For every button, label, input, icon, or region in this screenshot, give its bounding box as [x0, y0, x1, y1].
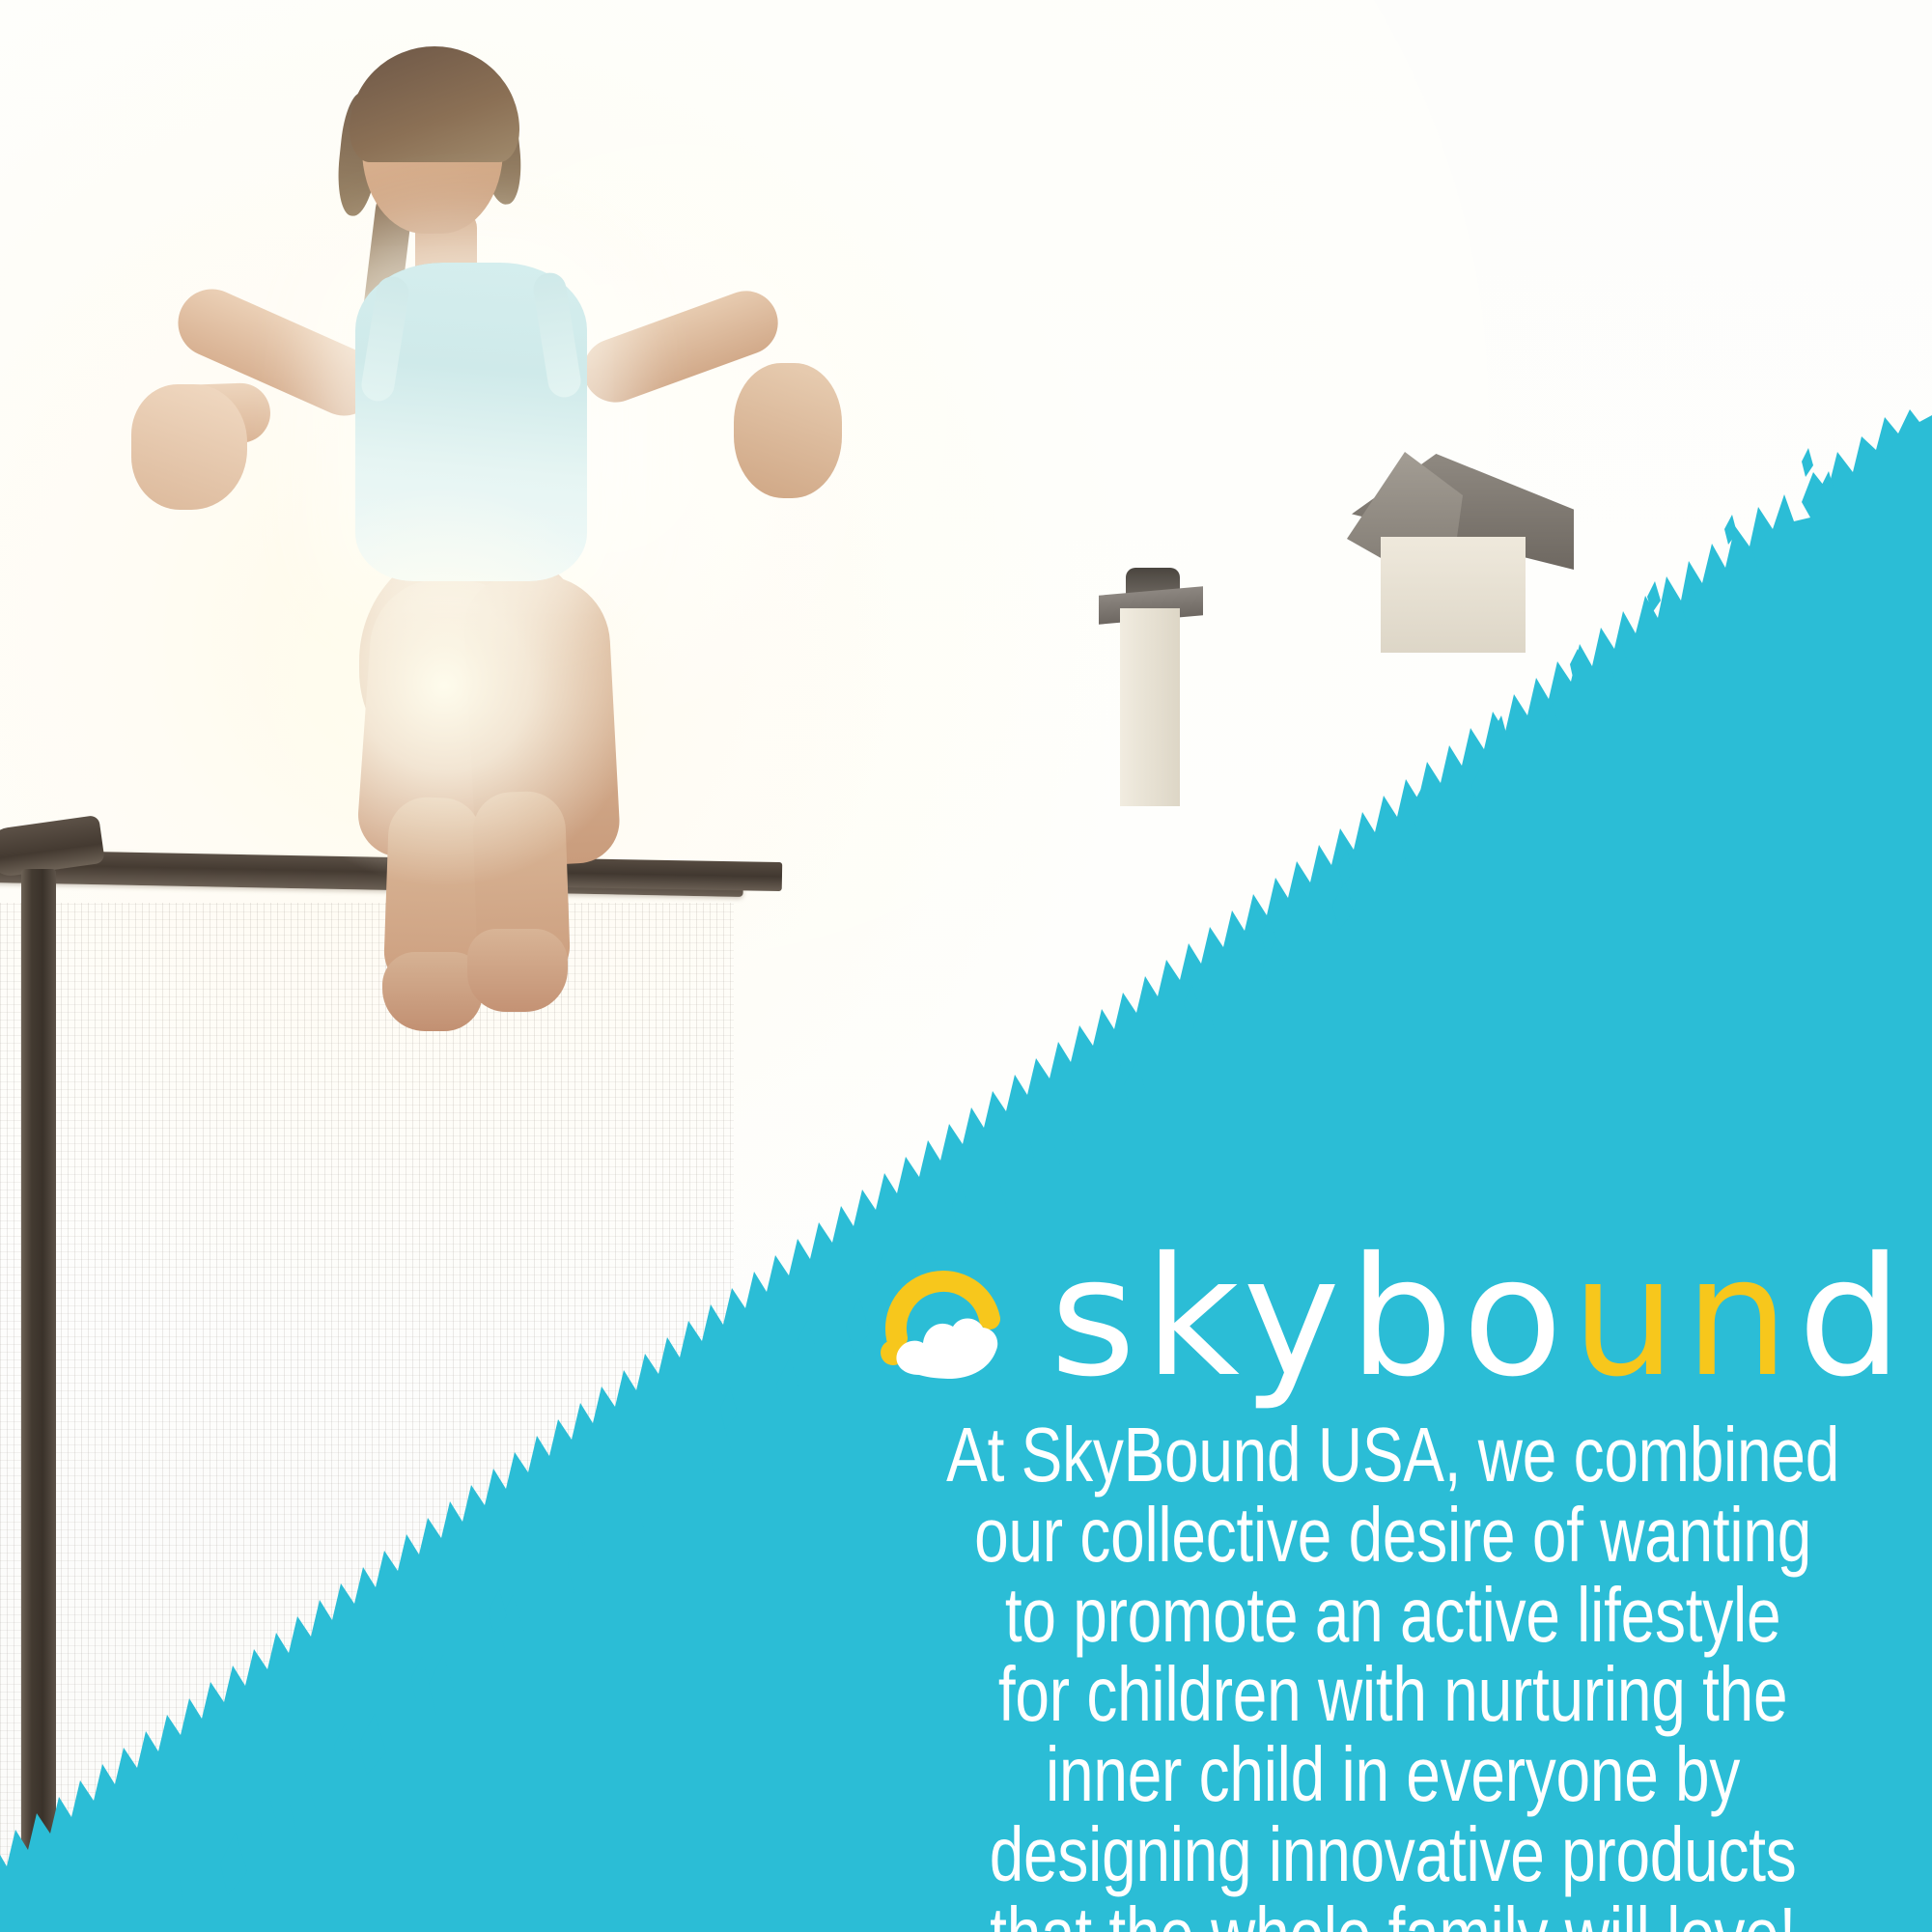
tagline-line: that the whole family will love! [856, 1895, 1930, 1932]
chimney-stack [1120, 608, 1180, 806]
sun-cloud-icon [881, 1249, 1018, 1386]
wordmark-part-2: u [1572, 1222, 1685, 1414]
logo-lockup: skybound [879, 1246, 1913, 1390]
wordmark-part-3: n [1685, 1222, 1798, 1414]
tagline-line: to promote an active lifestyle [856, 1576, 1930, 1656]
hair-top [350, 46, 519, 162]
skybound-wordmark: skybound [1050, 1248, 1912, 1388]
brand-block: skybound At SkyBound USA, we combined ou… [850, 1246, 1913, 1932]
girl-figure [0, 0, 966, 1081]
tagline-line: At SkyBound USA, we combined [856, 1415, 1930, 1496]
hand-left [131, 384, 247, 510]
foot-right [467, 929, 568, 1012]
tagline-line: our collective desire of wanting [856, 1496, 1930, 1576]
promo-poster: skybound At SkyBound USA, we combined ou… [0, 0, 1932, 1932]
tagline-line: designing innovative products [856, 1815, 1930, 1895]
tagline-line: inner child in everyone by [856, 1735, 1930, 1815]
tagline-line: for children with nurturing the [856, 1655, 1930, 1735]
wordmark-part-1: skybo [1050, 1222, 1572, 1414]
hand-right [734, 363, 842, 498]
roof-wall-right [1381, 537, 1526, 653]
wordmark-part-4: d [1798, 1222, 1911, 1414]
tagline-paragraph: At SkyBound USA, we combined our collect… [849, 1415, 1932, 1932]
